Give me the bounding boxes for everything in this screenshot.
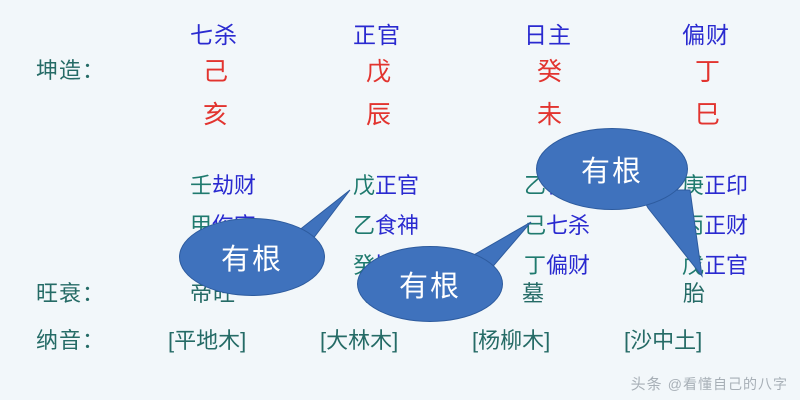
heavenly-stem-hour: 丁: [695, 60, 721, 85]
nayin-month: [大林木]: [320, 330, 398, 352]
ten-god-header-month: 正官: [353, 24, 401, 47]
callout-bubble-2[interactable]: 有根: [355, 222, 540, 327]
vitality-row-label: 旺衰：: [36, 283, 105, 305]
nayin-day: [杨柳木]: [472, 330, 550, 352]
earthly-branch-month: 辰: [366, 103, 392, 128]
callout-bubble-3-label[interactable]: 有根: [536, 128, 688, 210]
nayin-hour: [沙中土]: [624, 330, 702, 352]
watermark-source: 头条: [631, 376, 663, 393]
earthly-branch-year: 亥: [203, 103, 229, 128]
hidden-stem-god: 正官: [375, 173, 419, 198]
heavenly-stem-year: 己: [203, 60, 229, 85]
callout-bubble-2-label[interactable]: 有根: [357, 246, 503, 322]
bazi-chart: 坤造： 旺衰： 纳音： 七杀 正官 日主 偏财 己 戊 癸 丁 亥 辰 未 巳 …: [0, 0, 800, 400]
heavenly-stem-month: 戊: [366, 60, 392, 85]
heavenly-stem-day: 癸: [537, 60, 563, 85]
hidden-stem-month-1: 戊正官: [353, 175, 419, 197]
earthly-branch-hour: 巳: [695, 103, 721, 128]
nayin-year: [平地木]: [168, 330, 246, 352]
callout-bubble-1-label[interactable]: 有根: [179, 218, 325, 296]
ten-god-header-year: 七杀: [190, 24, 238, 47]
watermark: 头条 @看懂自己的八字: [631, 373, 788, 394]
callout-bubble-3[interactable]: 有根: [530, 128, 750, 288]
hidden-stem-char: 戊: [353, 173, 375, 198]
callout-bubble-1[interactable]: 有根: [175, 190, 355, 300]
ten-god-header-hour: 偏财: [682, 24, 730, 47]
pillar-row-label: 坤造：: [36, 60, 105, 82]
earthly-branch-day: 未: [537, 103, 563, 128]
nayin-row-label: 纳音：: [36, 330, 105, 352]
ten-god-header-day: 日主: [524, 24, 572, 47]
watermark-handle: @看懂自己的八字: [668, 376, 788, 392]
